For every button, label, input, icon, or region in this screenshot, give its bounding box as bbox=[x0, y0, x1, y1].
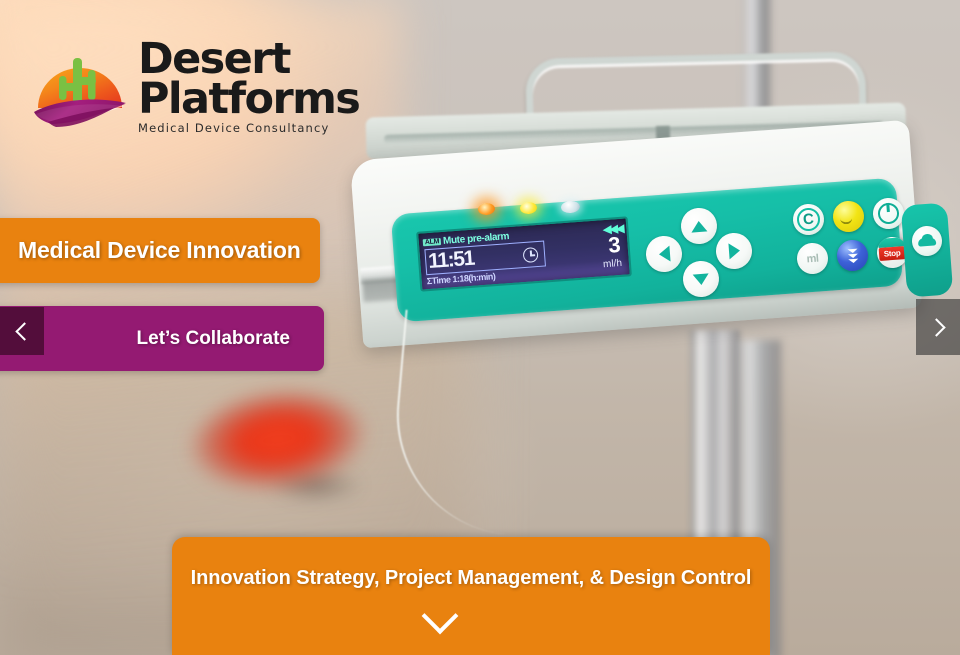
hero-cta-banner[interactable]: Let’s Collaborate bbox=[0, 306, 324, 371]
logo-wordmark: Desert Platforms Medical Device Consulta… bbox=[138, 40, 359, 135]
hero-headline: Medical Device Innovation bbox=[0, 237, 301, 264]
chevron-right-icon bbox=[927, 318, 945, 336]
ml-label: ml bbox=[806, 252, 819, 265]
slider-next-button[interactable] bbox=[916, 299, 960, 355]
hero-cta-label: Let’s Collaborate bbox=[137, 328, 324, 350]
chevron-down-icon[interactable] bbox=[422, 598, 459, 635]
stop-label: Stop bbox=[879, 246, 906, 261]
services-banner-text: Innovation Strategy, Project Management,… bbox=[172, 567, 770, 590]
hero-headline-banner: Medical Device Innovation bbox=[0, 218, 320, 283]
logo-name-line1: Desert bbox=[138, 40, 359, 78]
site-logo[interactable]: Desert Platforms Medical Device Consulta… bbox=[30, 42, 330, 142]
desert-sun-cactus-logo-icon bbox=[30, 50, 130, 132]
lcd-rate-unit: ml/h bbox=[603, 258, 623, 270]
hero-slider: ALM Mute pre-alarm ◀◀◀ 11:51 ΣTime 1:18(… bbox=[0, 0, 960, 655]
chevron-left-icon bbox=[15, 322, 33, 340]
clear-c-label: C bbox=[802, 211, 814, 229]
logo-tagline: Medical Device Consultancy bbox=[138, 121, 359, 135]
slider-prev-button[interactable] bbox=[0, 307, 44, 355]
logo-name-line2: Platforms bbox=[138, 78, 359, 120]
infusion-pump: ALM Mute pre-alarm ◀◀◀ 11:51 ΣTime 1:18(… bbox=[356, 140, 916, 370]
lcd-alarm-tag: ALM bbox=[423, 238, 442, 246]
lcd-rate-value: 3 bbox=[608, 234, 622, 257]
services-banner: Innovation Strategy, Project Management,… bbox=[172, 537, 770, 655]
